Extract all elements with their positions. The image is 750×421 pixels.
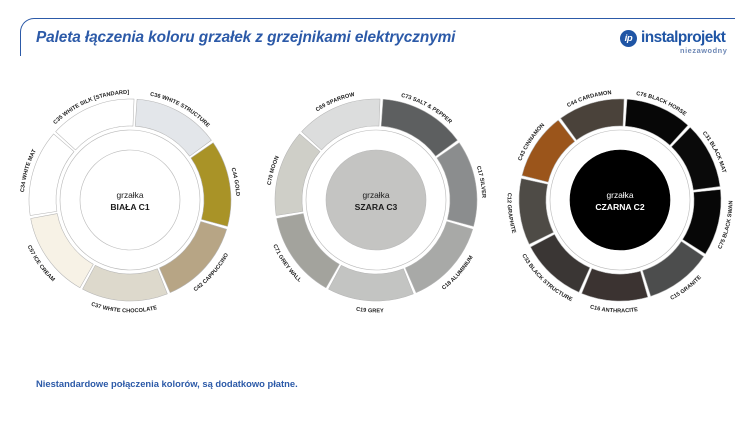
- center-label-line2: CZARNA C2: [595, 202, 645, 212]
- center-label-line2: SZARA C3: [355, 202, 398, 212]
- donut-segment: [83, 265, 168, 301]
- donut-chart: grzałkaSZARA C3C73 SALT & PEPPERC17 SILV…: [252, 78, 500, 328]
- center-label-line1: grzałka: [607, 190, 634, 200]
- donut-chart: grzałkaCZARNA C2C76 BLACK HORSEC31 BLACK…: [496, 78, 744, 328]
- segment-label: C12 GRAPHITE: [506, 193, 517, 235]
- donut-chart: grzałkaBIAŁA C1C36 WHITE STRUCTUREC44 GO…: [6, 78, 254, 328]
- segment-label: C44 GOLD: [229, 167, 240, 196]
- center-label-line1: grzałka: [363, 190, 390, 200]
- center-disc: [570, 150, 670, 250]
- center-label-line1: grzałka: [117, 190, 144, 200]
- color-wheel-czarna-c2: grzałkaCZARNA C2C76 BLACK HORSEC31 BLACK…: [496, 78, 744, 328]
- page-title: Paleta łączenia koloru grzałek z grzejni…: [36, 29, 455, 47]
- color-wheel-biala-c1: grzałkaBIAŁA C1C36 WHITE STRUCTUREC44 GO…: [6, 78, 254, 328]
- donut-segment: [329, 265, 414, 301]
- logo-mark-icon: ip: [620, 30, 637, 47]
- logo-tagline: niezawodny: [680, 46, 727, 55]
- segment-label: C19 GREY: [356, 307, 385, 315]
- center-label-line2: BIAŁA C1: [110, 202, 150, 212]
- center-disc: [326, 150, 426, 250]
- donut-segment: [582, 268, 648, 301]
- footer-note: Niestandardowe połączenia kolorów, są do…: [36, 378, 298, 389]
- brand-logo: ip instalprojekt niezawodny: [620, 29, 738, 59]
- segment-label: C16 ANTHRACITE: [589, 304, 638, 314]
- logo-wordmark: instalprojekt: [641, 29, 725, 47]
- center-disc: [80, 150, 180, 250]
- donut-segment: [519, 178, 553, 244]
- slide-canvas: Paleta łączenia koloru grzałek z grzejni…: [0, 0, 750, 421]
- segment-label: C37 WHITE CHOCOLATE: [90, 302, 158, 315]
- color-wheel-szara-c3: grzałkaSZARA C3C73 SALT & PEPPERC17 SILV…: [252, 78, 500, 328]
